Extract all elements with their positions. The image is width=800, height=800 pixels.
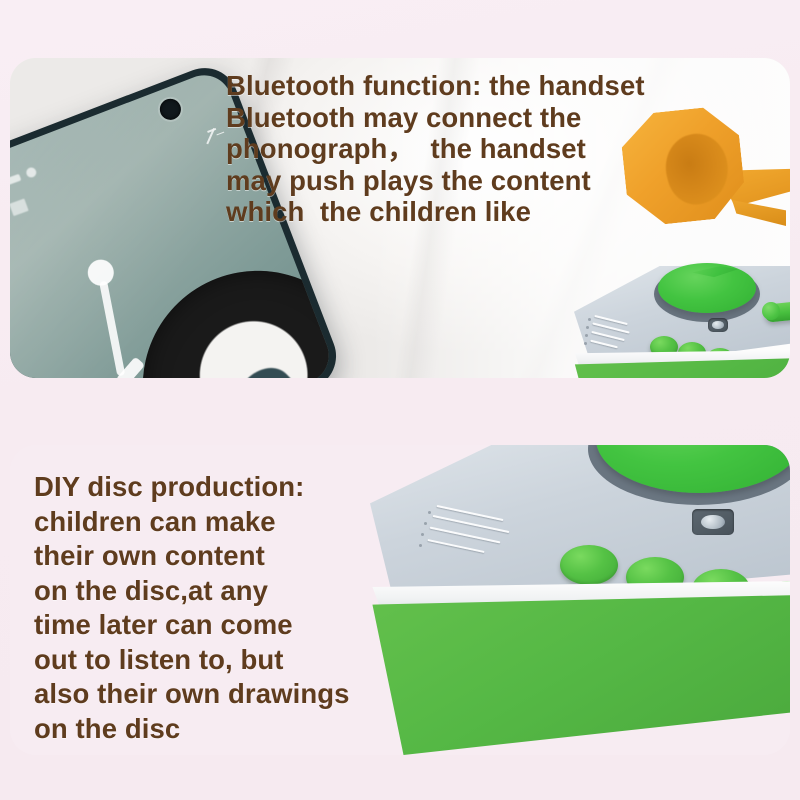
speaker-grille [586, 316, 650, 348]
heading-line: may push plays the content [226, 165, 706, 197]
heading-line: Bluetooth function: the handset [226, 70, 706, 102]
heading-line: children can make [34, 505, 394, 540]
toy-phonograph-photo-large [370, 445, 790, 755]
diy-disc-feature-heading: DIY disc production: children can make t… [34, 470, 394, 746]
heading-line: DIY disc production: [34, 470, 394, 505]
toy-phonograph-photo-small [556, 258, 790, 378]
heading-line: out to listen to, but [34, 643, 394, 678]
heading-line: which the children like [226, 196, 706, 228]
device-body [368, 595, 790, 755]
status-indicator [708, 318, 728, 332]
heading-line: on the disc,at any [34, 574, 394, 609]
heading-line: also their own drawings [34, 677, 394, 712]
control-button [560, 545, 618, 585]
tonearm-cap [762, 302, 780, 320]
horn-tube [732, 200, 786, 226]
product-feature-collage: Bluetooth function: the handset Bluetoot… [0, 0, 800, 800]
heading-line: phonograph， the handset [226, 133, 706, 165]
bluetooth-feature-heading: Bluetooth function: the handset Bluetoot… [226, 70, 706, 228]
heading-line: their own content [34, 539, 394, 574]
status-indicator [692, 509, 734, 535]
heading-line: Bluetooth may connect the [226, 102, 706, 134]
speaker-grille [422, 509, 542, 557]
heading-line: on the disc [34, 712, 394, 747]
heading-line: time later can come [34, 608, 394, 643]
